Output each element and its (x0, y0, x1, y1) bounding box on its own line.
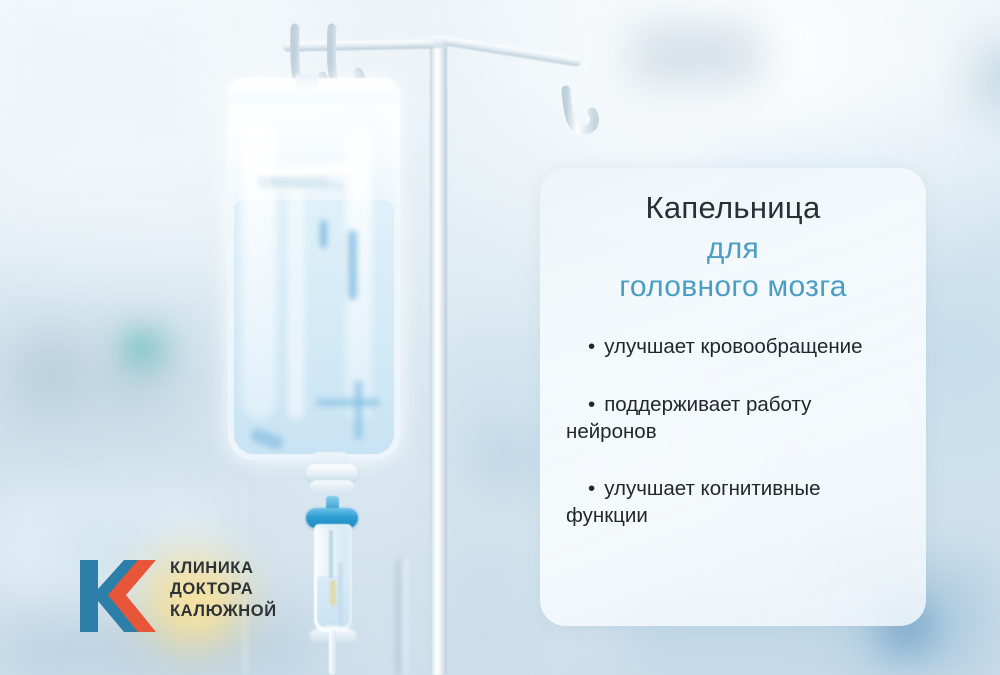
iv-bag-label (258, 176, 328, 188)
title-line-2: для (566, 231, 900, 266)
kk-monogram-icon (78, 556, 160, 636)
drip-collar-lower (310, 480, 354, 494)
clinic-logo-text: КЛИНИКА ДОКТОРА КАЛЮЖНОЙ (170, 558, 277, 622)
logo-line-1: КЛИНИКА (170, 558, 277, 579)
benefit-item: улучшает когнитивные функции (566, 476, 900, 529)
drip-chamber (314, 524, 352, 632)
title-line-3: головного мозга (566, 269, 900, 304)
benefits-list: улучшает кровообращение поддерживает раб… (566, 334, 900, 529)
title-line-1: Капельница (566, 190, 900, 227)
info-card: Капельница для головного мозга улучшает … (540, 168, 926, 626)
benefit-item: улучшает кровообращение (566, 334, 900, 361)
clinic-logo: КЛИНИКА ДОКТОРА КАЛЮЖНОЙ (78, 556, 318, 640)
benefit-item: поддерживает работу нейронов (566, 392, 900, 445)
logo-line-3: КАЛЮЖНОЙ (170, 601, 277, 622)
iv-tubing (329, 630, 336, 675)
page-title: Капельница для головного мозга (566, 190, 900, 304)
poster-canvas: Капельница для головного мозга улучшает … (0, 0, 1000, 675)
logo-line-2: ДОКТОРА (170, 579, 277, 600)
